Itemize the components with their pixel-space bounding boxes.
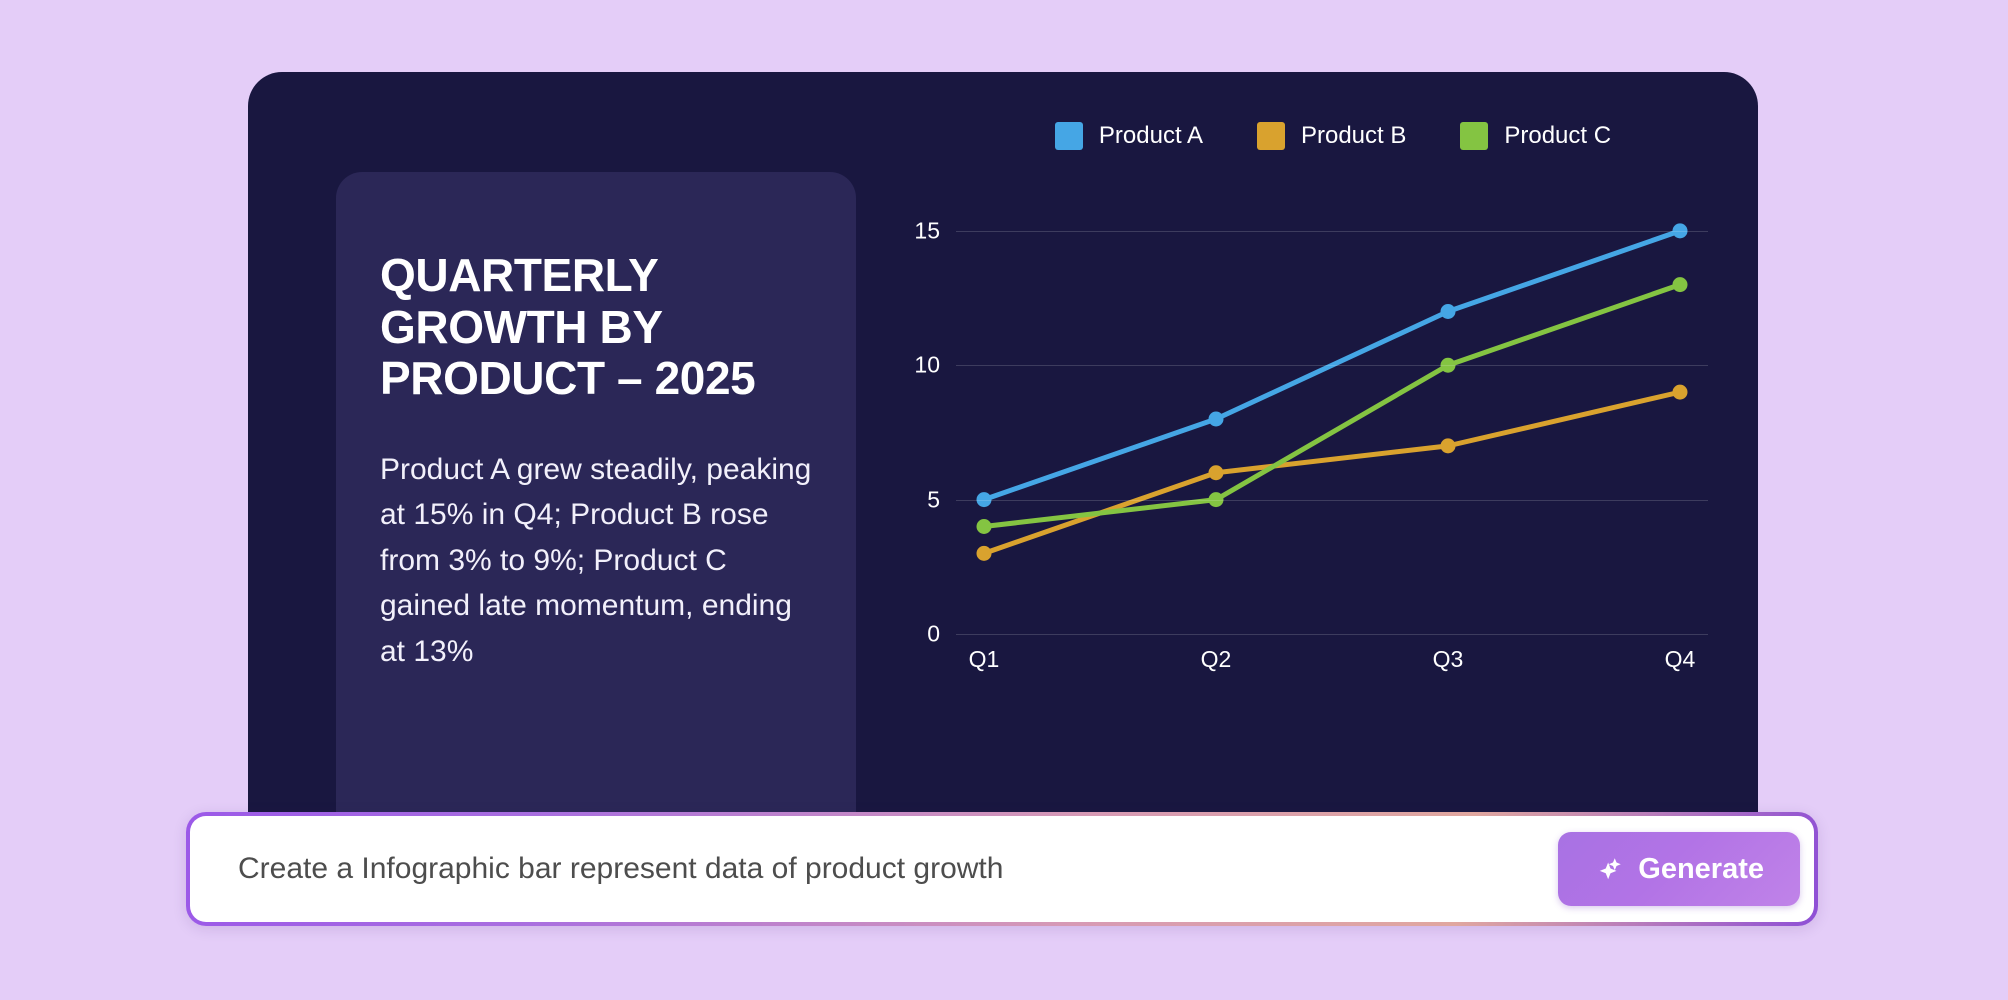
prompt-input[interactable] [238,852,1558,886]
series-line-product-c [984,285,1680,527]
app-panel: Quarterly Growth by Product – 2025 Produ… [248,72,1758,824]
x-axis-tick-label: Q4 [1665,646,1696,673]
legend-swatch-icon [1257,122,1285,150]
prompt-bar-inner: Generate [190,816,1814,922]
legend-swatch-icon [1460,122,1488,150]
gridline [956,231,1708,232]
plot-wrapper: 051015 Q1Q2Q3Q4 [888,204,1708,634]
y-axis-tick-label: 15 [914,217,940,244]
data-point[interactable] [977,546,992,561]
data-point[interactable] [1673,385,1688,400]
y-axis: 051015 [888,204,940,634]
sparkle-icon [1594,853,1624,886]
legend-swatch-icon [1055,122,1083,150]
y-axis-tick-label: 10 [914,352,940,379]
x-axis: Q1Q2Q3Q4 [956,634,1708,674]
data-point[interactable] [1441,304,1456,319]
legend-label: Product B [1301,122,1406,150]
generate-button[interactable]: Generate [1558,832,1800,906]
series-line-product-b [984,392,1680,553]
prompt-bar: Generate [186,812,1818,926]
legend-item-product-a[interactable]: Product A [1055,122,1203,150]
x-axis-tick-label: Q2 [1201,646,1232,673]
data-point[interactable] [1209,412,1224,427]
x-axis-tick-label: Q3 [1433,646,1464,673]
generate-button-label: Generate [1638,853,1764,886]
y-axis-tick-label: 0 [927,621,940,648]
line-chart-svg [956,204,1708,634]
legend-label: Product A [1099,122,1203,150]
y-axis-tick-label: 5 [927,486,940,513]
chart-region: Product A Product B Product C 051015 Q1Q… [888,114,1708,824]
chart-legend: Product A Product B Product C [958,114,1708,158]
legend-label: Product C [1504,122,1611,150]
legend-item-product-b[interactable]: Product B [1257,122,1406,150]
data-point[interactable] [977,519,992,534]
data-point[interactable] [1209,465,1224,480]
data-point[interactable] [1441,438,1456,453]
gridline [956,365,1708,366]
info-card: Quarterly Growth by Product – 2025 Produ… [336,172,856,824]
info-card-title: Quarterly Growth by Product – 2025 [380,250,812,405]
info-card-body: Product A grew steadily, peaking at 15% … [380,447,812,675]
x-axis-tick-label: Q1 [969,646,1000,673]
legend-item-product-c[interactable]: Product C [1460,122,1611,150]
data-point[interactable] [1673,277,1688,292]
gridline [956,500,1708,501]
plot-area [956,204,1708,634]
